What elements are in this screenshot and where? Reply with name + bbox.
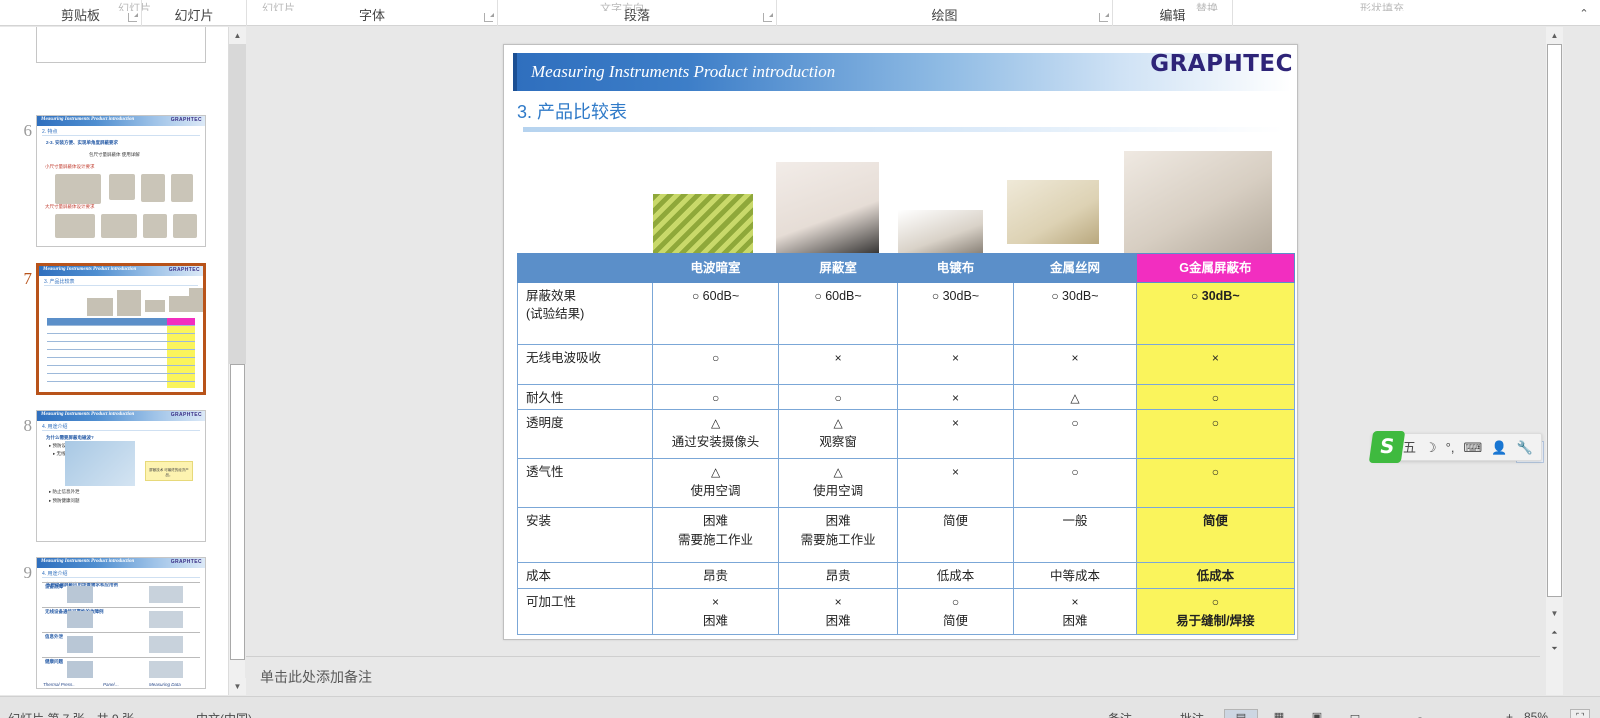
ime-item-list: 五☽°,⌨👤🔧 — [1403, 441, 1533, 454]
thumbnail-slide-7[interactable]: 7Measuring Instruments Product introduct… — [0, 263, 215, 395]
thumbnail-canvas[interactable]: Measuring Instruments Product introducti… — [36, 115, 206, 247]
table-row[interactable]: 成本昂贵昂贵低成本中等成本低成本 — [518, 563, 1295, 589]
main-vertical-scrollbar[interactable]: ▲ ▼ ⏶ ⏷ — [1546, 27, 1563, 695]
ribbon-group-1: 幻灯片 — [142, 0, 247, 26]
table-cell: 昂贵 — [652, 563, 779, 589]
thumbnail-footer-right: Measuring Data — [149, 682, 181, 687]
table-cell: ○ — [1014, 459, 1137, 508]
thumbnail-row-label-3: 健康问题 — [45, 659, 63, 665]
table-cell: 低成本 — [897, 563, 1013, 589]
table-cell: ×困难 — [1014, 589, 1137, 635]
thumbnail-number: 9 — [6, 563, 32, 583]
table-cell: ○ — [779, 385, 897, 410]
thumbnail-number: 8 — [6, 416, 32, 436]
thumbnail-section-label: 4. 用途介绍 — [42, 570, 68, 577]
anechoic-chamber-photo[interactable] — [653, 194, 753, 256]
table-cell: × — [897, 345, 1013, 385]
user-icon[interactable]: 👤 — [1491, 441, 1507, 454]
table-cell: ○ — [652, 345, 779, 385]
thumbnail-table-gridline-6 — [47, 373, 195, 374]
thumbnail-row-image2-3 — [149, 661, 183, 678]
product-comparison-table[interactable]: 电波暗室屏蔽室电镀布金属丝网G金属屏蔽布 屏蔽效果(试验结果)○ 60dB~○ … — [517, 253, 1295, 635]
table-row[interactable]: 无线电波吸收○×××× — [518, 345, 1295, 385]
zoom-out-button[interactable]: - — [1418, 710, 1422, 718]
thumbnail-header-band: Measuring Instruments Product introducti… — [37, 116, 205, 126]
thumbnail-row-label-2: 信息外泄 — [45, 634, 63, 640]
table-cell: ○ — [652, 385, 779, 410]
table-cell: 困难需要施工作业 — [779, 508, 897, 563]
dialog-launcher-icon[interactable] — [128, 13, 137, 22]
table-cell: × — [897, 410, 1013, 459]
table-cell: 昂贵 — [779, 563, 897, 589]
thumbnail-row-rule-0 — [42, 582, 200, 583]
thumbnail-row-rule-3 — [42, 657, 200, 658]
thumbnail-photo-4 — [189, 288, 206, 312]
table-cell: × — [1014, 345, 1137, 385]
input-mode-wubi[interactable]: 五 — [1403, 441, 1416, 454]
table-cell: △观察窗 — [779, 410, 897, 459]
thumbnail-scrollbar[interactable]: ▲ ▼ — [228, 27, 245, 695]
thumbnail-table-gridline-7 — [47, 381, 195, 382]
slide-thumbnail-pane[interactable]: 56Measuring Instruments Product introduc… — [0, 27, 228, 695]
thumbnail-rule — [42, 577, 200, 578]
thumbnail-row-image-0 — [67, 586, 93, 603]
thumbnail-row-image2-0 — [149, 586, 183, 603]
table-cell: △通过安装摄像头 — [652, 410, 779, 459]
thumbnail-band-title: Measuring Instruments Product introducti… — [41, 412, 134, 417]
notes-toggle-label[interactable]: 备注 — [1108, 710, 1132, 718]
thumbnail-slide-8[interactable]: 8Measuring Instruments Product introduct… — [0, 410, 215, 542]
table-row-label: 耐久性 — [518, 385, 653, 410]
table-cell: ○ 60dB~ — [652, 283, 779, 345]
table-row-label: 安装 — [518, 508, 653, 563]
thumbnail-table-gridline-3 — [47, 349, 195, 350]
main-scroll-up-button[interactable]: ▲ — [1546, 27, 1563, 44]
table-column-header-4: 金属丝网 — [1014, 254, 1137, 283]
slide-position-label[interactable]: 幻灯片 第 7 张，共 9 张 — [8, 710, 134, 718]
thumbnail-table-gridline-0 — [47, 325, 195, 326]
thumbnail-canvas[interactable]: Measuring Instruments Product introducti… — [36, 410, 206, 542]
scrollbar-thumb[interactable] — [230, 364, 245, 660]
thumbnail-row-image-2 — [67, 636, 93, 653]
thumbnail-section-label: 2. 特点 — [42, 128, 58, 135]
thumbnail-band-title: Measuring Instruments Product introducti… — [43, 267, 136, 272]
scroll-up-button[interactable]: ▲ — [229, 27, 246, 44]
table-cell: × — [779, 345, 897, 385]
table-cell: ○ 30dB~ — [1136, 283, 1294, 345]
ribbon-group-label: 字体 — [247, 5, 497, 24]
view-slide-sorter-button[interactable]: ▦ — [1262, 709, 1296, 718]
table-row-label: 透气性 — [518, 459, 653, 508]
thumbnail-bullet-3: ▸ 预防健康问题 — [49, 498, 80, 504]
status-bar: 幻灯片 第 7 张，共 9 张 中文(中国) 备注 批注 ▤ ▦ ▣ ▭ - +… — [0, 696, 1600, 718]
thumbnail-table-gridline-2 — [47, 341, 195, 342]
thumbnail-callout: 屏蔽技术 可最终的经济产品。 — [145, 461, 193, 481]
thumbnail-slide-6[interactable]: 6Measuring Instruments Product introduct… — [0, 115, 215, 247]
table-column-header-5: G金属屏蔽布 — [1136, 254, 1294, 283]
chevron-up-icon[interactable]: ⌃ — [1576, 6, 1592, 22]
view-reading-button[interactable]: ▣ — [1300, 709, 1334, 718]
table-row-label: 透明度 — [518, 410, 653, 459]
thumbnail-table-gridline-5 — [47, 365, 195, 366]
thumbnail-header-band: Measuring Instruments Product introducti… — [37, 411, 205, 421]
thumbnail-photo-3 — [169, 296, 189, 312]
thumbnail-logo: GRAPHTEC — [171, 412, 202, 418]
table-column-header-3: 电镀布 — [897, 254, 1013, 283]
table-row[interactable]: 透气性△使用空调△使用空调×○○ — [518, 459, 1295, 508]
language-label[interactable]: 中文(中国) — [196, 710, 252, 718]
thumbnail-section-label: 3. 产品比较表 — [44, 278, 75, 285]
slide-band-title: Measuring Instruments Product introducti… — [531, 62, 835, 82]
ribbon-group-list: 剪贴板幻灯片字体段落绘图编辑 — [0, 0, 1600, 25]
thumbnail-image — [65, 441, 135, 486]
table-cell: △使用空调 — [779, 459, 897, 508]
table-cell: ○ — [1136, 459, 1294, 508]
thumbnail-footer-left: Thermal Press.. — [43, 682, 75, 687]
table-cell: ○ 60dB~ — [779, 283, 897, 345]
slide-heading[interactable]: 3. 产品比较表 — [517, 98, 627, 124]
thumbnail-band-title: Measuring Instruments Product introducti… — [41, 559, 134, 564]
thumbnail-table-gridline-4 — [47, 357, 195, 358]
table-cell: 简便 — [1136, 508, 1294, 563]
table-row[interactable]: 可加工性×困难×困难○简便×困难○易于缝制/焊接 — [518, 589, 1295, 635]
table-row[interactable]: 耐久性○○×△○ — [518, 385, 1295, 410]
fit-slide-icon[interactable]: ⛶ — [1570, 709, 1590, 718]
toolbox-icon[interactable]: 🔧 — [1516, 441, 1532, 454]
scroll-down-button[interactable]: ▼ — [229, 678, 246, 695]
thumbnail-row-image-3 — [67, 661, 93, 678]
ribbon-group-label: 编辑 — [1113, 5, 1232, 24]
thumbnail-shape-0 — [55, 174, 101, 204]
dialog-launcher-icon[interactable] — [484, 13, 493, 22]
heading-underline — [523, 127, 1283, 132]
table-cell: 低成本 — [1136, 563, 1294, 589]
thumbnail-label-a: 小尺寸量屏蔽体设计要求 — [45, 164, 95, 170]
table-row-label: 屏蔽效果(试验结果) — [518, 283, 653, 345]
zoom-level-label[interactable]: 85% — [1524, 710, 1548, 718]
thumbnail-table-header-highlight — [167, 318, 195, 325]
table-column-header-2: 屏蔽室 — [779, 254, 897, 283]
thumbnail-section-label: 4. 用途介绍 — [42, 423, 68, 430]
table-cell: 困难需要施工作业 — [652, 508, 779, 563]
thumbnail-footer-mid: Panel… — [103, 682, 119, 687]
ribbon-group-label: 段落 — [498, 5, 776, 24]
thumbnail-slide-5[interactable]: 5 — [0, 27, 215, 63]
table-body: 屏蔽效果(试验结果)○ 60dB~○ 60dB~○ 30dB~○ 30dB~○ … — [518, 283, 1295, 635]
notes-placeholder[interactable]: 单击此处添加备注 — [260, 667, 372, 687]
scrollbar-track-upper[interactable] — [229, 44, 246, 364]
table-cell: 中等成本 — [1014, 563, 1137, 589]
ribbon-group-3: 段落 — [498, 0, 777, 26]
thumbnail-number: 7 — [6, 269, 32, 289]
table-cell: ○ — [1136, 385, 1294, 410]
soft-keyboard-icon[interactable]: ⌨ — [1463, 441, 1482, 454]
moon-icon[interactable]: ☽ — [1425, 441, 1437, 454]
plated-fabric-photo[interactable] — [898, 210, 983, 253]
graphtec-logo: GRAPHTEC — [1150, 51, 1293, 77]
thumbnail-row-rule-2 — [42, 632, 200, 633]
thumbnail-shape-6 — [143, 214, 167, 238]
table-cell: 简便 — [897, 508, 1013, 563]
ribbon-group-4: 绘图 — [777, 0, 1113, 26]
table-cell: △使用空调 — [652, 459, 779, 508]
thumbnail-row-rule-1 — [42, 607, 200, 608]
comments-toggle-label[interactable]: 批注 — [1180, 710, 1204, 718]
previous-slide-button[interactable]: ⏶ — [1546, 627, 1563, 639]
main-scrollbar-thumb[interactable] — [1547, 44, 1562, 597]
thumbnail-row-image2-2 — [149, 636, 183, 653]
thumbnail-header-band: Measuring Instruments Product introducti… — [39, 266, 203, 276]
thumbnail-shape-7 — [173, 214, 197, 238]
view-slideshow-button[interactable]: ▭ — [1338, 709, 1372, 718]
table-row-label: 成本 — [518, 563, 653, 589]
thumbnail-number: 6 — [6, 121, 32, 141]
table-column-header-1: 电波暗室 — [652, 254, 779, 283]
powerpoint-window: 幻灯片幻灯片文字方向形状填充替换 剪贴板幻灯片字体段落绘图编辑 ⌃ 56Meas… — [0, 0, 1600, 718]
ribbon-group-2: 字体 — [247, 0, 498, 26]
ribbon-group-label: 绘图 — [777, 5, 1112, 24]
shield-room-photo[interactable] — [776, 162, 879, 262]
table-cell: ○ — [1136, 410, 1294, 459]
thumbnail-logo: GRAPHTEC — [169, 267, 200, 273]
table-cell: ×困难 — [779, 589, 897, 635]
thumbnail-shape-4 — [55, 214, 95, 238]
thumbnail-shape-3 — [171, 174, 193, 202]
thumbnail-table-gridline-1 — [47, 333, 195, 334]
thumbnail-band-title: Measuring Instruments Product introducti… — [41, 117, 134, 122]
table-cell: × — [1136, 345, 1294, 385]
thumbnail-rule — [42, 430, 200, 431]
table-cell: ○简便 — [897, 589, 1013, 635]
table-row[interactable]: 安装困难需要施工作业困难需要施工作业简便一般简便 — [518, 508, 1295, 563]
thumbnail-row-image2-1 — [149, 611, 183, 628]
zoom-in-button[interactable]: + — [1506, 710, 1513, 718]
ribbon-group-label: 幻灯片 — [142, 5, 246, 24]
current-slide[interactable]: Measuring Instruments Product introducti… — [503, 44, 1298, 640]
ribbon-group-5: 编辑 — [1113, 0, 1233, 26]
table-cell: × — [897, 459, 1013, 508]
thumbnail-header-band: Measuring Instruments Product introducti… — [37, 558, 205, 568]
table-cell: ○ 30dB~ — [897, 283, 1013, 345]
g-metal-shield-cloth-photo[interactable] — [1124, 151, 1272, 255]
table-row[interactable]: 透明度△通过安装摄像头△观察窗×○○ — [518, 410, 1295, 459]
slide-thumbnail-list: 56Measuring Instruments Product introduc… — [0, 27, 228, 695]
table-corner-cell — [518, 254, 653, 283]
dialog-launcher-icon[interactable] — [763, 13, 772, 22]
thumbnail-row-label-0: 设备故障 — [45, 584, 63, 590]
notes-pane[interactable]: 单击此处添加备注 — [246, 656, 1540, 695]
ribbon-group-0: 剪贴板 — [20, 0, 142, 26]
slide-edit-area[interactable]: Measuring Instruments Product introducti… — [246, 27, 1540, 655]
thumbnail-caption: 包尺寸量屏蔽体 使用详解 — [89, 152, 140, 158]
thumbnail-label-b: 大尺寸量屏蔽体设计要求 — [45, 204, 95, 210]
table-cell: ○易于缝制/焊接 — [1136, 589, 1294, 635]
table-row-label: 可加工性 — [518, 589, 653, 635]
sogou-logo-icon[interactable]: S — [1369, 431, 1405, 463]
ribbon: 幻灯片幻灯片文字方向形状填充替换 剪贴板幻灯片字体段落绘图编辑 ⌃ — [0, 0, 1600, 26]
thumbnail-slide-9[interactable]: 9Measuring Instruments Product introduct… — [0, 557, 215, 689]
dialog-launcher-icon[interactable] — [1099, 13, 1108, 22]
thumbnail-rule — [42, 135, 200, 136]
main-scroll-down-button[interactable]: ▼ — [1546, 605, 1563, 622]
thumbnail-rule — [44, 285, 198, 286]
thumbnail-logo: GRAPHTEC — [171, 117, 202, 123]
sogou-ime-toolbar[interactable]: S 五☽°,⌨👤🔧 — [1372, 433, 1542, 461]
table-cell: 一般 — [1014, 508, 1137, 563]
thumbnail-logo: GRAPHTEC — [171, 559, 202, 565]
ribbon-group-label: 剪贴板 — [20, 5, 141, 24]
next-slide-button[interactable]: ⏷ — [1546, 643, 1563, 655]
thumbnail-shape-2 — [141, 174, 165, 202]
table-cell: ×困难 — [652, 589, 779, 635]
thumbnail-shape-1 — [109, 174, 135, 200]
punctuation-icon[interactable]: °, — [1446, 441, 1455, 454]
table-cell: △ — [1014, 385, 1137, 410]
thumbnail-subtitle: 2-3. 安装方便、实现单角度屏蔽要求 — [46, 140, 118, 146]
thumbnail-photo-1 — [117, 290, 141, 316]
table-cell: × — [897, 385, 1013, 410]
thumbnail-shape-5 — [101, 214, 137, 238]
table-cell: ○ 30dB~ — [1014, 283, 1137, 345]
table-row-label: 无线电波吸收 — [518, 345, 653, 385]
metal-mesh-photo[interactable] — [1007, 180, 1099, 244]
view-normal-button[interactable]: ▤ — [1224, 709, 1258, 718]
thumbnail-photo-0 — [87, 298, 113, 316]
thumbnail-canvas[interactable]: Measuring Instruments Product introducti… — [36, 557, 206, 689]
thumbnail-row-image-1 — [67, 611, 93, 628]
thumbnail-photo-2 — [145, 300, 165, 312]
table-header-row: 电波暗室屏蔽室电镀布金属丝网G金属屏蔽布 — [518, 254, 1295, 283]
table-row[interactable]: 屏蔽效果(试验结果)○ 60dB~○ 60dB~○ 30dB~○ 30dB~○ … — [518, 283, 1295, 345]
table-cell: ○ — [1014, 410, 1137, 459]
thumbnail-canvas[interactable] — [36, 27, 206, 63]
thumbnail-canvas[interactable]: Measuring Instruments Product introducti… — [36, 263, 206, 395]
thumbnail-bullet-2: ▸ 防止信息外泄 — [49, 489, 80, 495]
